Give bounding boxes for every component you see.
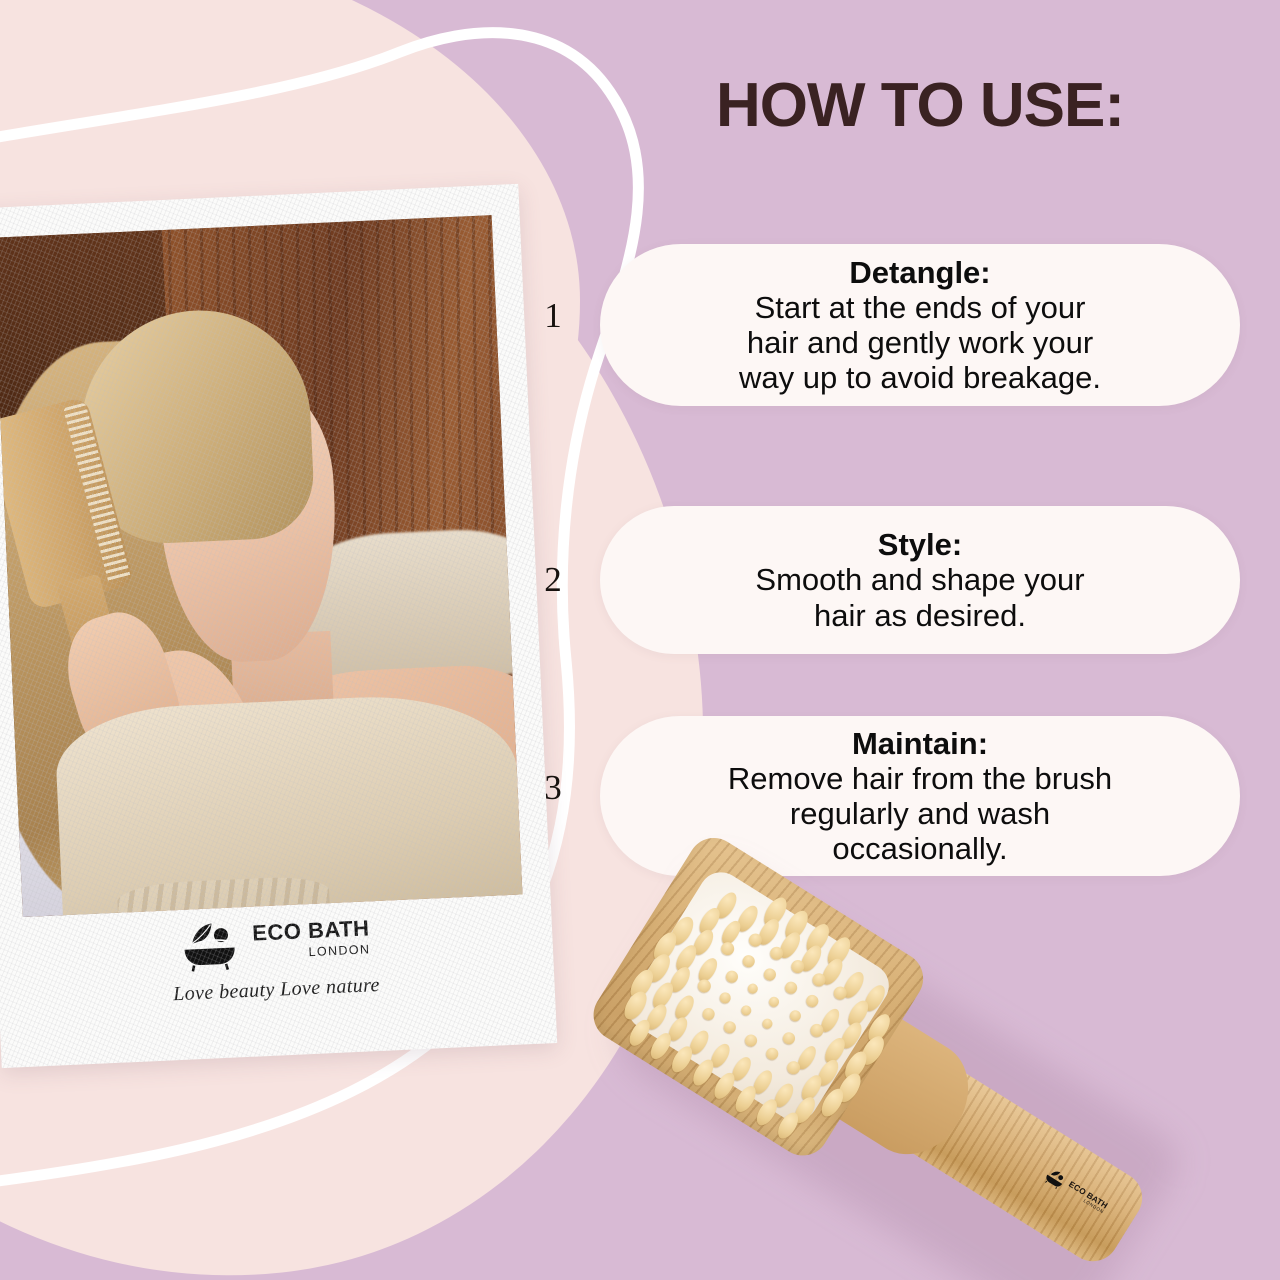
product-image: ECO BATH LONDON xyxy=(596,846,1236,1276)
brush-pin xyxy=(741,953,757,969)
brush-pin xyxy=(620,988,651,1023)
step-number-2: 2 xyxy=(533,560,573,600)
brand-tagline: Love beauty Love nature xyxy=(173,974,381,1006)
step-2-body-line-1: Smooth and shape your xyxy=(755,562,1084,597)
step-2-heading: Style: xyxy=(755,527,1084,562)
step-3-body-line-1: Remove hair from the brush xyxy=(728,761,1112,796)
step-1-body-line-1: Start at the ends of your xyxy=(739,290,1101,325)
page-title: HOW TO USE: xyxy=(620,70,1220,141)
step-1-heading: Detangle: xyxy=(739,255,1101,290)
step-1-body-line-2: hair and gently work your xyxy=(739,325,1101,360)
step-card-1[interactable]: Detangle: Start at the ends of your hair… xyxy=(600,244,1240,406)
step-number-3: 3 xyxy=(533,768,573,808)
brush-pin xyxy=(761,1017,775,1031)
brand-name: ECO BATH xyxy=(252,917,370,944)
brush-pin xyxy=(695,977,713,995)
brush-pin xyxy=(717,990,733,1006)
brush-pin xyxy=(743,1032,759,1048)
brush-pin xyxy=(719,940,737,958)
brush-pin xyxy=(722,1019,738,1035)
bathtub-leaf-icon xyxy=(177,913,242,974)
polaroid-card: ECO BATH LONDON Love beauty Love nature xyxy=(0,184,557,1068)
brush-pin xyxy=(788,1008,804,1024)
step-3-body-line-2: regularly and wash xyxy=(728,796,1112,831)
brush-pin xyxy=(746,982,760,996)
brush-pin xyxy=(700,1006,716,1022)
brush-pin xyxy=(739,1004,753,1018)
photo-towel xyxy=(54,691,523,917)
step-card-2[interactable]: Style: Smooth and shape your hair as des… xyxy=(600,506,1240,654)
brush-pin xyxy=(804,993,820,1009)
polaroid-caption: ECO BATH LONDON Love beauty Love nature xyxy=(0,899,555,1014)
brush-pin xyxy=(762,966,778,982)
step-number-1: 1 xyxy=(533,296,573,336)
brush-pin xyxy=(724,968,740,984)
brand-city: LONDON xyxy=(308,942,370,959)
step-2-body-line-2: hair as desired. xyxy=(755,598,1084,633)
brush-pin xyxy=(767,995,780,1008)
infographic-canvas: ECO BATH LONDON Love beauty Love nature … xyxy=(0,0,1280,1280)
brush-pin xyxy=(781,1030,797,1046)
step-1-body-line-3: way up to avoid breakage. xyxy=(739,360,1101,395)
product-lifestyle-photo xyxy=(0,215,522,917)
brush-pin xyxy=(764,1045,780,1061)
brush-pin xyxy=(783,979,799,995)
step-3-heading: Maintain: xyxy=(728,726,1112,761)
